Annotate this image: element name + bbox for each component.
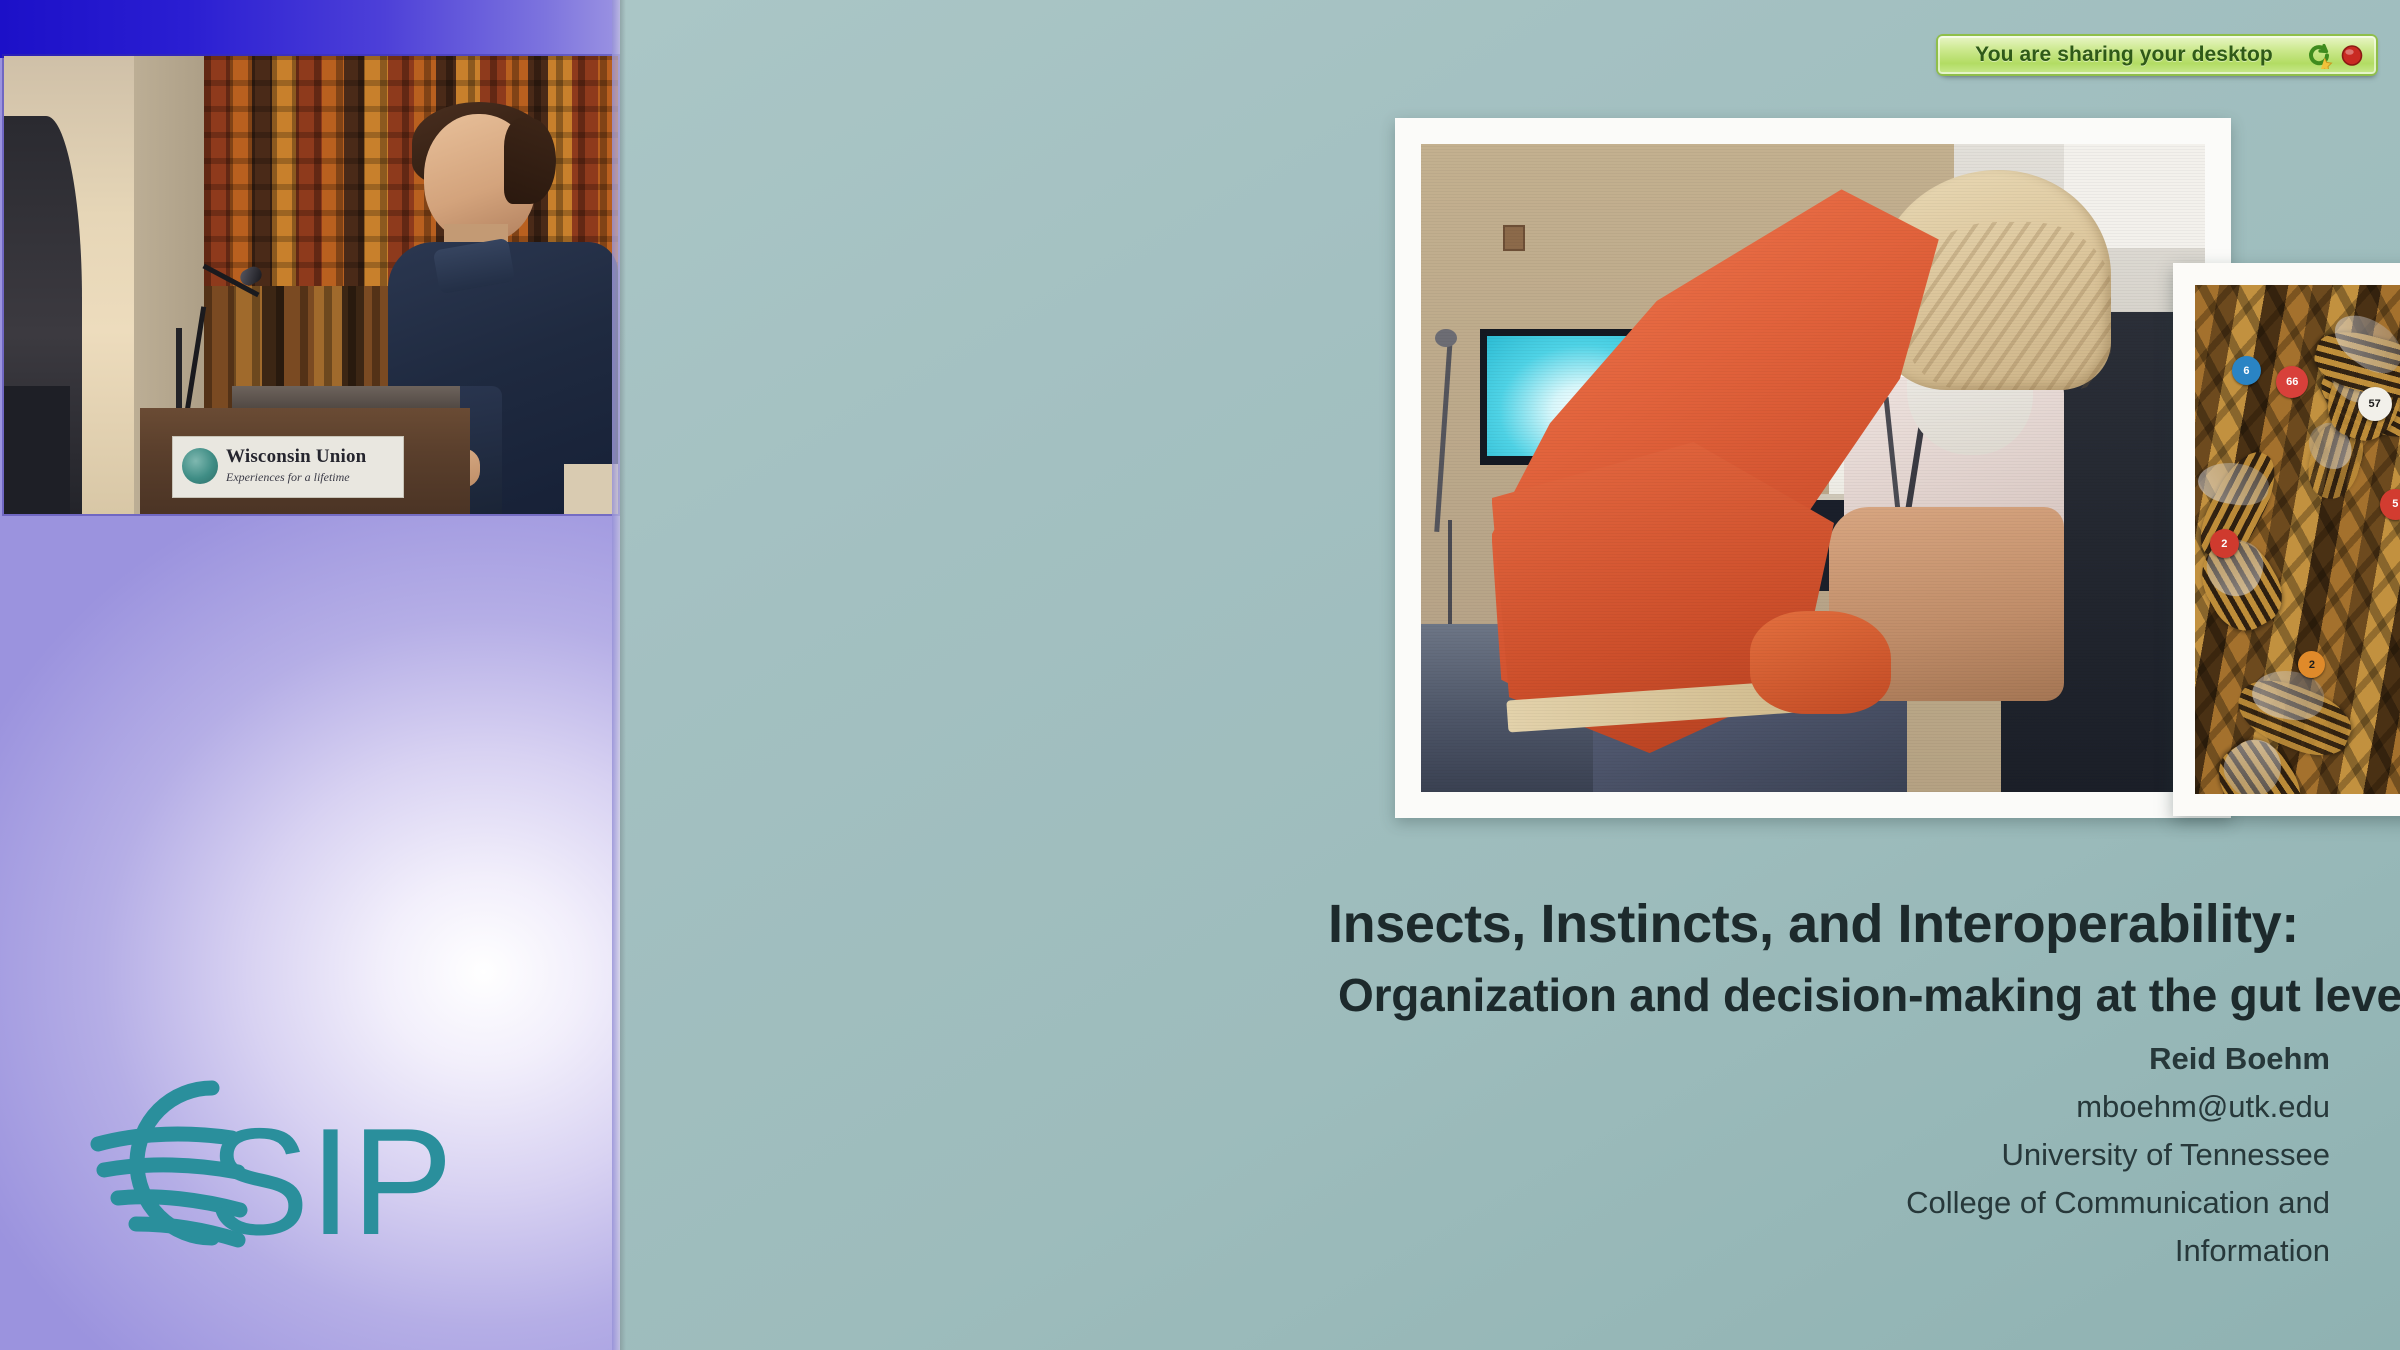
esip-logo-text: SIP bbox=[208, 1097, 453, 1267]
sidebar-top-band bbox=[0, 0, 620, 58]
bee-tag: 5 bbox=[2380, 489, 2400, 520]
bee-tag: 6 bbox=[2232, 356, 2261, 385]
p1-photo-grain bbox=[1421, 144, 2205, 792]
wisconsin-union-seal-icon bbox=[182, 448, 218, 484]
bee bbox=[2390, 679, 2400, 794]
tagged-honeybees-image: 666573164978572114154312639148214 bbox=[2195, 285, 2400, 794]
podium-sign-organization: Wisconsin Union bbox=[226, 446, 402, 468]
author-name: Reid Boehm bbox=[1230, 1035, 2330, 1083]
sharing-status-text: You are sharing your desktop bbox=[1948, 43, 2300, 67]
laptop-edge bbox=[564, 464, 618, 514]
author-institution: University of Tennessee bbox=[1230, 1131, 2330, 1179]
slide-title-line1: Insects, Instincts, and Interoperability… bbox=[1328, 893, 2400, 955]
bee-tag: 66 bbox=[2276, 366, 2308, 398]
sidebar-panel: Wisconsin Union Experiences for a lifeti… bbox=[0, 0, 620, 1350]
sharing-bar-inner: You are sharing your desktop bbox=[1938, 36, 2376, 74]
bee-tag: 2 bbox=[2298, 651, 2325, 678]
webcam-doorway-lower bbox=[4, 386, 70, 514]
slide-left-edge bbox=[620, 0, 626, 1350]
podium-sign-tagline: Experiences for a lifetime bbox=[226, 468, 402, 486]
tagged-honeybees-photo: 666573164978572114154312639148214 bbox=[2173, 263, 2400, 816]
sidebar-right-edge bbox=[612, 0, 620, 1350]
speaker-hair-back bbox=[504, 118, 556, 204]
stop-sharing-icon[interactable] bbox=[2338, 41, 2366, 69]
screen-sharing-view: Wisconsin Union Experiences for a lifeti… bbox=[0, 0, 2400, 1350]
esip-logo: SIP bbox=[62, 1058, 492, 1268]
author-block: Reid Boehm mboehm@utk.edu University of … bbox=[1230, 1035, 2330, 1275]
slide-title-line2: Organization and decision-making at the … bbox=[1338, 967, 2400, 1023]
shared-slide: You are sharing your desktop bbox=[620, 0, 2400, 1350]
bee-tag: 57 bbox=[2358, 387, 2392, 421]
bee-tag: 2 bbox=[2210, 529, 2239, 558]
author-department-line2: Information bbox=[1230, 1227, 2330, 1275]
person-under-blanket-photo bbox=[1395, 118, 2231, 818]
sharing-notification-bar[interactable]: You are sharing your desktop bbox=[1938, 36, 2376, 74]
author-email: mboehm@utk.edu bbox=[1230, 1083, 2330, 1131]
person-under-blanket-image bbox=[1421, 144, 2205, 792]
author-department-line1: College of Communication and bbox=[1230, 1179, 2330, 1227]
refresh-sharing-icon[interactable] bbox=[2305, 41, 2333, 69]
speaker-webcam-feed[interactable]: Wisconsin Union Experiences for a lifeti… bbox=[4, 56, 618, 514]
